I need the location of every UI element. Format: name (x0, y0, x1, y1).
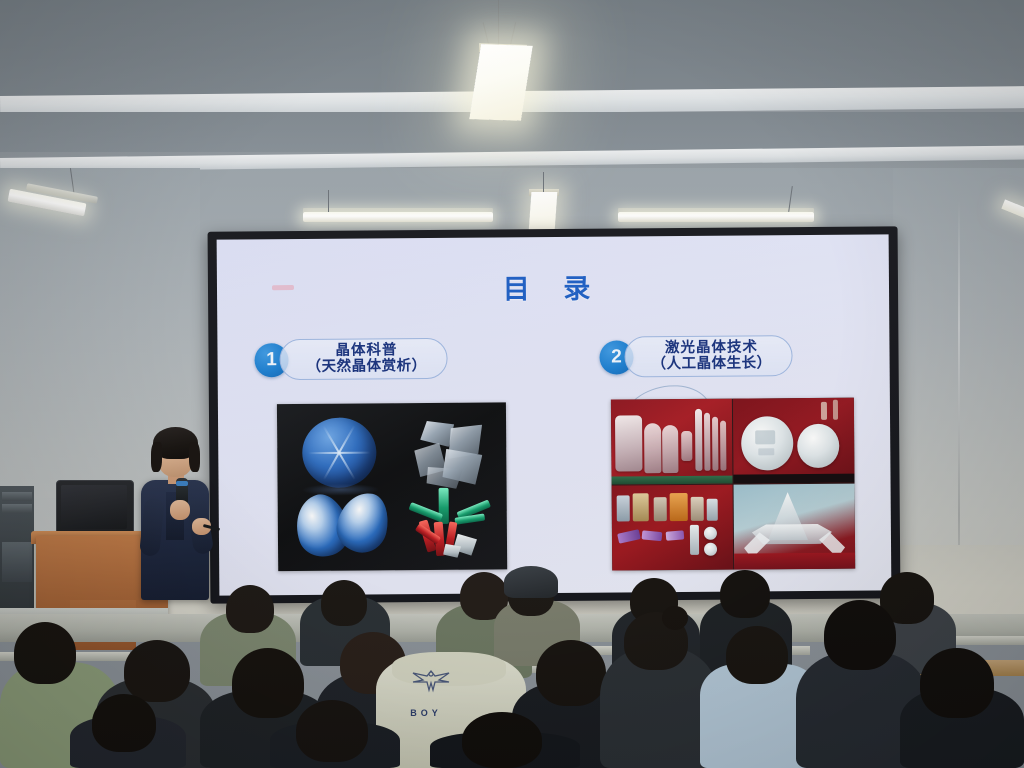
microphone-band (176, 481, 188, 486)
synthetic-quadrant-discs (733, 398, 855, 484)
attendee-head (321, 580, 367, 626)
presenter-hair-right (189, 442, 200, 472)
slide-agenda-row: 1 晶体科普 （天然晶体赏析） 2 激光晶体技术 （人工晶体生长） (217, 334, 889, 393)
agenda-pill-2: 激光晶体技术 （人工晶体生长） (624, 335, 792, 378)
panel-center-cable (543, 172, 544, 192)
synthetic-quadrant-pyramid (734, 484, 856, 570)
slide-title: 目 录 (217, 264, 889, 308)
lecture-hall-photo: 目 录 1 晶体科普 （天然晶体赏析） 2 激光晶体技术 （人工晶体生 (0, 0, 1024, 768)
presenter-hair-left (151, 442, 162, 472)
agenda-item-1[interactable]: 1 晶体科普 （天然晶体赏析） (254, 338, 447, 381)
crystal-cluster (403, 485, 496, 562)
podium-laptop[interactable] (56, 480, 134, 537)
attendee-head (824, 600, 896, 670)
slide-surface: 目 录 1 晶体科普 （天然晶体赏析） 2 激光晶体技术 （人工晶体生 (217, 234, 892, 595)
attendee-head (536, 640, 606, 706)
synthetic-crystal-photo (611, 398, 855, 571)
jacket-graphic-text: BOY (396, 676, 456, 718)
agenda-item-1-line2: （天然晶体赏析） (307, 358, 427, 375)
tube-left-cable (328, 190, 329, 212)
agenda-item-2[interactable]: 2 激光晶体技术 （人工晶体生长） (599, 335, 792, 378)
agenda-item-2-line1: 激光晶体技术 (651, 339, 771, 356)
attendee-head (720, 570, 770, 618)
hair-bun (662, 606, 688, 630)
synthetic-quadrant-vials (612, 485, 734, 571)
attendee-cap (504, 566, 558, 598)
pendant-cable (498, 0, 499, 48)
projection-screen[interactable]: 目 录 1 晶体科普 （天然晶体赏析） 2 激光晶体技术 （人工晶体生 (208, 226, 901, 603)
av-equipment-rack (0, 486, 34, 616)
agenda-pill-1: 晶体科普 （天然晶体赏析） (279, 338, 447, 381)
attendee-head (726, 626, 788, 684)
attendee-head (920, 648, 994, 718)
attendee-head (226, 585, 274, 633)
laptop-screen (61, 485, 127, 529)
star-sapphire-sphere (302, 417, 377, 488)
attendee-head (232, 648, 304, 718)
ceiling-tube-above-screen-right (618, 212, 814, 222)
attendee-head (462, 712, 542, 768)
ceiling-panel-above-screen-center (529, 192, 558, 232)
presenter-hand-mic (170, 500, 190, 520)
attendee-head (296, 700, 368, 762)
agenda-item-1-line1: 晶体科普 (306, 342, 426, 359)
natural-crystal-photo (277, 402, 507, 571)
attendee-head (92, 694, 156, 752)
faceted-clear-crystal (406, 419, 491, 490)
agenda-item-2-line2: （人工晶体生长） (652, 356, 772, 373)
attendee-head (124, 640, 190, 702)
synthetic-quadrant-boules (611, 399, 733, 485)
ceiling-tube-above-screen-left (303, 212, 493, 222)
attendee-head (14, 622, 76, 684)
